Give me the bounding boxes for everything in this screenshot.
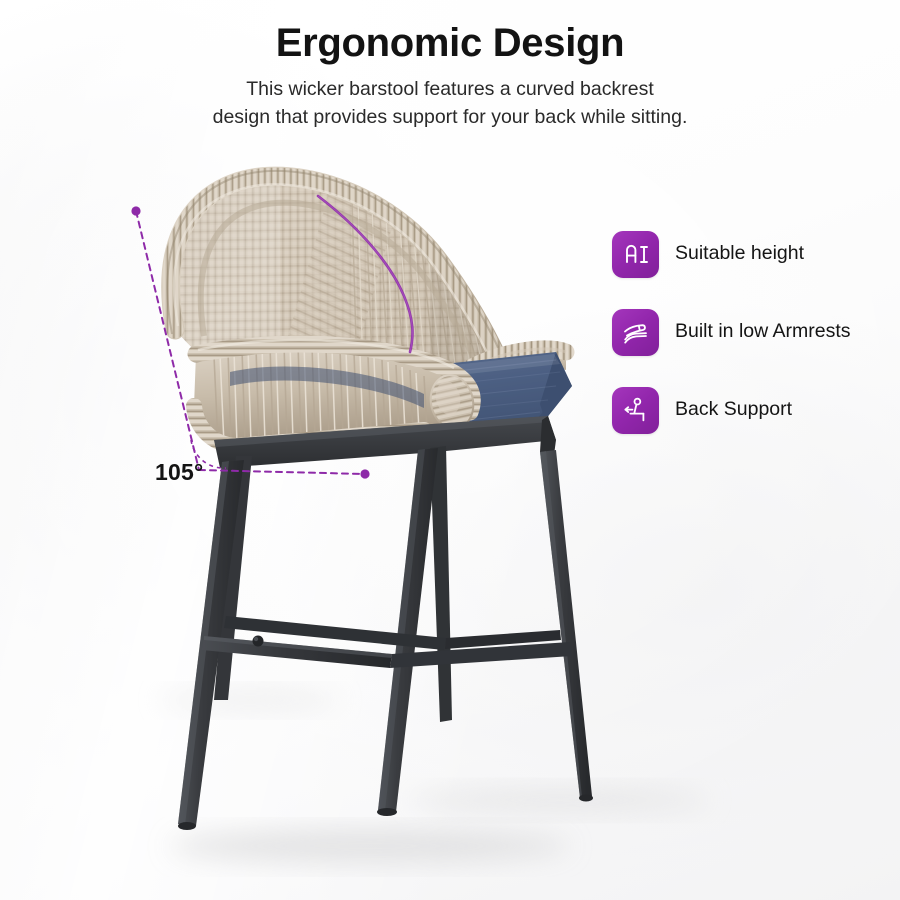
feature-item-back-support: Back Support: [612, 384, 900, 436]
page-subtitle: This wicker barstool features a curved b…: [150, 76, 750, 131]
subtitle-line-1: This wicker barstool features a curved b…: [150, 76, 750, 104]
page-title: Ergonomic Design: [0, 20, 900, 66]
subtitle-line-2: design that provides support for your ba…: [150, 104, 750, 132]
product-feature-banner: 105° Ergonomic Design This wicker barsto…: [0, 0, 900, 900]
armrest-icon: [612, 309, 659, 356]
feature-label: Suitable height: [675, 244, 804, 264]
feature-label: Back Support: [675, 400, 792, 420]
height-measure-icon: [612, 231, 659, 278]
header: Ergonomic Design This wicker barstool fe…: [0, 20, 900, 131]
feature-item-low-armrests: Built in low Armrests: [612, 306, 900, 358]
footrest-stretchers: [202, 616, 572, 668]
feature-label: Built in low Armrests: [675, 322, 851, 342]
feature-list: Suitable height Built in low Armrests: [612, 228, 900, 462]
feature-item-suitable-height: Suitable height: [612, 228, 900, 280]
back-support-icon: [612, 387, 659, 434]
angle-value-label: 105°: [155, 459, 203, 486]
